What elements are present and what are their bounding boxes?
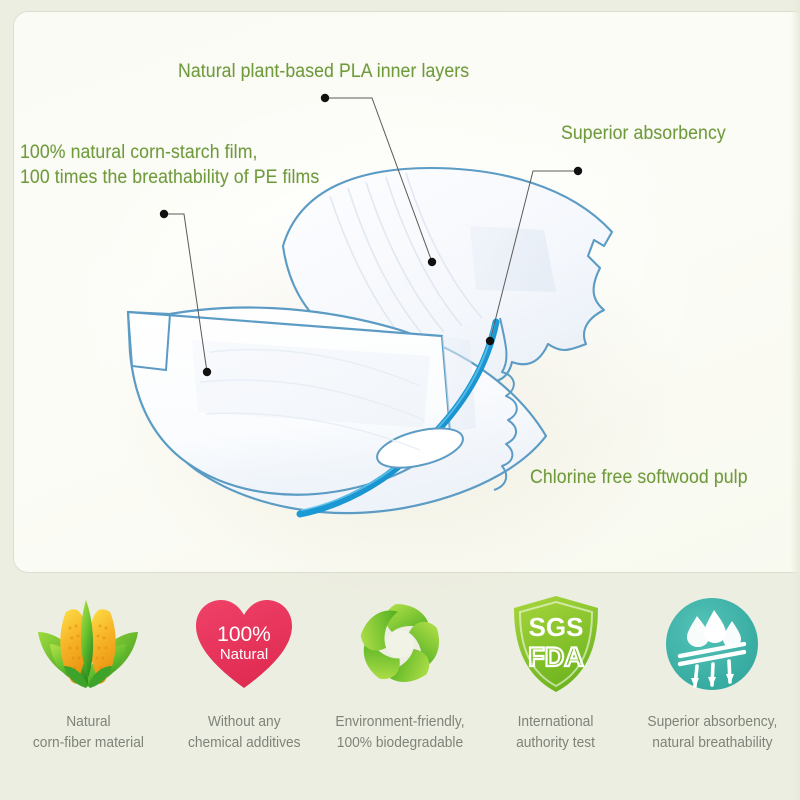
back-pad-patch <box>470 226 556 292</box>
right-edge-gradient <box>790 0 800 800</box>
callout-corn-starch-film: 100% natural corn-starch film, 100 times… <box>20 140 319 190</box>
heart-icon: 100% Natural <box>190 590 298 698</box>
feature-natural-corn-fiber: Natural corn-fiber material <box>10 574 166 754</box>
feature-international-authority: SGS FDA International authority test <box>478 574 634 754</box>
shield-icon: SGS FDA <box>508 590 604 698</box>
feature-caption: Superior absorbency, natural breathabili… <box>647 712 777 754</box>
feature-superior-absorbency: Superior absorbency, natural breathabili… <box>634 574 790 754</box>
product-infographic: Natural plant-based PLA inner layers 100… <box>0 0 800 800</box>
feature-no-chemical-additives: 100% Natural Without any chemical additi… <box>166 574 322 754</box>
corn-icon <box>28 590 148 698</box>
feature-caption: Natural corn-fiber material <box>32 712 143 754</box>
callout-superior-absorbency: Superior absorbency <box>561 121 726 146</box>
leaf-circle-icon <box>348 590 452 698</box>
heart-badge-top: 100% <box>217 623 271 646</box>
shield-badge-top: SGS <box>529 612 584 642</box>
shield-badge-bottom: FDA <box>528 642 584 672</box>
heart-badge-bottom: Natural <box>220 646 268 663</box>
water-drop-icon <box>661 590 763 698</box>
feature-environment-friendly: Environment-friendly, 100% biodegradable <box>322 574 478 754</box>
callout-chlorine-free-pulp: Chlorine free softwood pulp <box>530 465 748 490</box>
callout-pla-inner-layers: Natural plant-based PLA inner layers <box>178 59 469 84</box>
feature-badge-row: Natural corn-fiber material 100% Natural… <box>0 574 800 800</box>
feature-caption: Environment-friendly, 100% biodegradable <box>335 712 464 754</box>
feature-caption: Without any chemical additives <box>188 712 301 754</box>
feature-caption: International authority test <box>517 712 596 754</box>
